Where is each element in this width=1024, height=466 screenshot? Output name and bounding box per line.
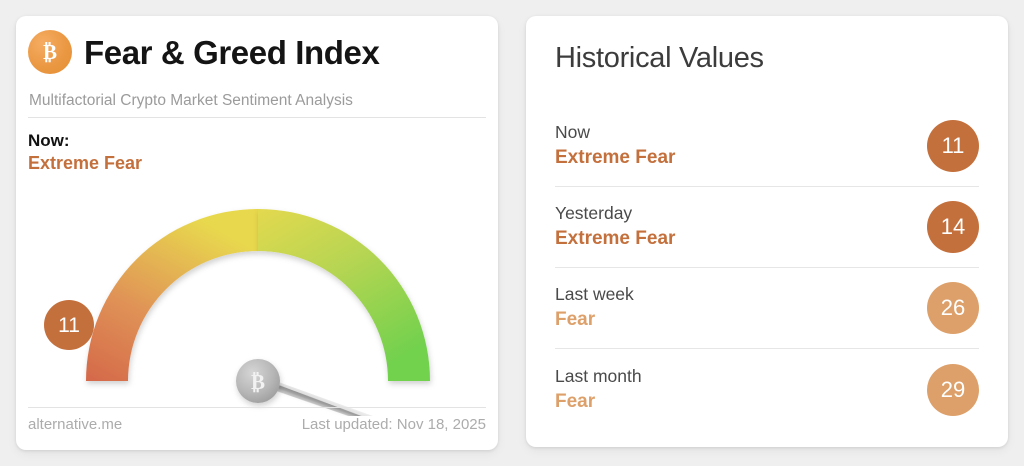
last-updated-label: Last updated: Nov 18, 2025 <box>302 416 486 433</box>
history-sentiment-label: Fear <box>555 308 634 332</box>
page-root: ₿ Fear & Greed Index Multifactorial Cryp… <box>0 0 1024 466</box>
list-item[interactable]: Last week Fear 26 <box>555 268 979 349</box>
history-sentiment-label: Extreme Fear <box>555 227 675 251</box>
page-title: Fear & Greed Index <box>84 36 379 69</box>
historical-values-list: Now Extreme Fear 11 Yesterday Extreme Fe… <box>555 106 979 430</box>
now-value: Extreme Fear <box>28 152 142 176</box>
gauge-value-badge: 11 <box>44 300 94 350</box>
svg-text:₿: ₿ <box>43 40 57 64</box>
history-period-label: Last month <box>555 366 642 388</box>
history-period-label: Now <box>555 122 675 144</box>
now-label: Now: <box>28 130 142 152</box>
historical-values-card: Historical Values Now Extreme Fear 11 Ye… <box>526 16 1008 447</box>
gauge-arc-left <box>86 209 258 381</box>
gauge-hub: ₿ <box>236 359 280 403</box>
footer-divider <box>28 407 486 408</box>
source-label[interactable]: alternative.me <box>28 416 122 433</box>
history-sentiment-label: Fear <box>555 390 642 414</box>
history-score-badge: 11 <box>927 120 979 172</box>
history-row-text: Last week Fear <box>555 284 634 332</box>
history-row-text: Now Extreme Fear <box>555 122 675 170</box>
history-score-badge: 26 <box>927 282 979 334</box>
list-item[interactable]: Last month Fear 29 <box>555 349 979 430</box>
gauge-arc-right <box>258 209 430 381</box>
gauge-widget: ₿ 11 <box>16 176 498 416</box>
index-card-header: ₿ Fear & Greed Index <box>28 30 379 74</box>
historical-values-title: Historical Values <box>555 44 764 73</box>
history-period-label: Yesterday <box>555 203 675 225</box>
history-period-label: Last week <box>555 284 634 306</box>
bitcoin-icon: ₿ <box>28 30 72 74</box>
gauge-chart: ₿ <box>38 176 478 416</box>
history-row-text: Yesterday Extreme Fear <box>555 203 675 251</box>
history-sentiment-label: Extreme Fear <box>555 146 675 170</box>
fear-greed-index-card: ₿ Fear & Greed Index Multifactorial Cryp… <box>16 16 498 450</box>
index-card-footer: alternative.me Last updated: Nov 18, 202… <box>28 416 486 433</box>
page-subtitle: Multifactorial Crypto Market Sentiment A… <box>29 92 353 110</box>
list-item[interactable]: Yesterday Extreme Fear 14 <box>555 187 979 268</box>
history-score-badge: 14 <box>927 201 979 253</box>
history-row-text: Last month Fear <box>555 366 642 414</box>
list-item[interactable]: Now Extreme Fear 11 <box>555 106 979 187</box>
header-divider <box>28 117 486 118</box>
bitcoin-hub-icon: ₿ <box>251 370 265 394</box>
current-value-block: Now: Extreme Fear <box>28 130 142 176</box>
history-score-badge: 29 <box>927 364 979 416</box>
